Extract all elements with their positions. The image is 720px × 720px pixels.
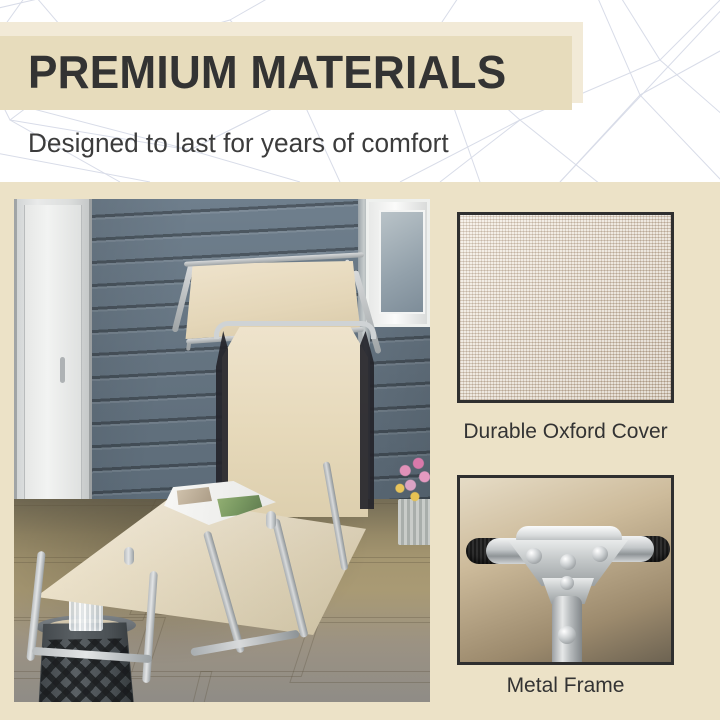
fabric-caption: Durable Oxford Cover <box>457 418 674 446</box>
rivet-center <box>560 554 576 570</box>
page-title: PREMIUM MATERIALS <box>28 41 566 103</box>
header: PREMIUM MATERIALS Designed to last for y… <box>0 0 720 182</box>
rivet-right <box>592 546 608 562</box>
rivet-neck <box>560 576 574 590</box>
frame-hinge-left <box>124 547 134 565</box>
metal-frame-box <box>457 475 674 665</box>
door-handle <box>60 357 65 383</box>
page-subtitle: Designed to last for years of comfort <box>28 124 610 162</box>
door-panel <box>14 199 92 517</box>
product-feature-page: PREMIUM MATERIALS Designed to last for y… <box>0 0 720 720</box>
frame-hinge-right <box>266 511 276 529</box>
window-frame <box>366 199 430 327</box>
window-glass <box>379 210 425 314</box>
rivet-left <box>526 548 542 564</box>
backrest-edge-right <box>360 331 374 509</box>
main-product-photo <box>14 199 430 702</box>
fabric-sheen <box>460 215 671 400</box>
side-table <box>33 622 139 702</box>
fabric-swatch-box <box>457 212 674 403</box>
flowers <box>392 455 430 507</box>
rivet-tube <box>558 626 576 644</box>
metal-caption: Metal Frame <box>457 672 674 700</box>
